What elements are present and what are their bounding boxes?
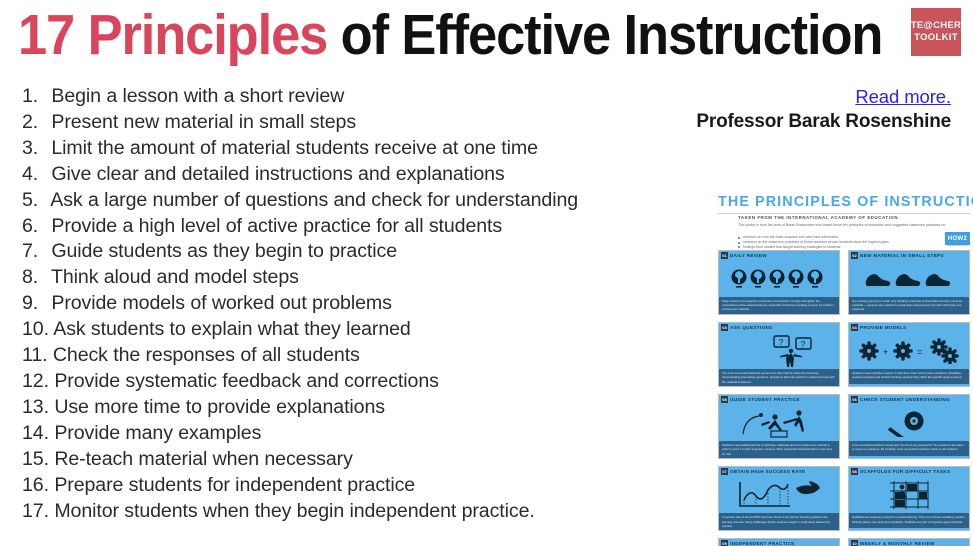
poster-card-description: Scaffolds are temporary supports to assi… xyxy=(849,513,969,528)
poster-card-number-badge: 04 xyxy=(851,324,858,331)
list-item-text: Limit the amount of material students re… xyxy=(51,137,538,159)
poster-card-header: 06CHECK STUDENT UNDERSTANDING xyxy=(849,395,969,404)
poster-card: 04PROVIDE MODELS+=Students need cognitiv… xyxy=(848,322,970,387)
poster-card-illustration-scaffold xyxy=(849,476,969,513)
poster-card-title: GUIDE STUDENT PRACTICE xyxy=(730,397,800,402)
list-item: 11. Check the responses of all students xyxy=(22,343,662,369)
poster-card-number-badge: 07 xyxy=(721,468,728,475)
list-item-text: Monitor students when they begin indepen… xyxy=(54,500,534,522)
list-item-text: Give clear and detailed instructions and… xyxy=(51,163,504,185)
list-item-number: 14. xyxy=(22,421,49,447)
poster-card-description: Less successful teachers merely ask 'Are… xyxy=(849,441,969,456)
poster-card-illustration-magnifier xyxy=(849,404,969,441)
poster-card-number-badge: 05 xyxy=(721,396,728,403)
list-item-number: 8. xyxy=(22,265,46,291)
list-item-text: Ask students to explain what they learne… xyxy=(53,318,411,340)
poster-card: 06CHECK STUDENT UNDERSTANDINGLess succes… xyxy=(848,394,970,459)
list-item-text: Ask a large number of questions and chec… xyxy=(50,189,578,211)
logo-line-1: TE@CHER xyxy=(911,20,961,32)
poster-intro-text: This poster is from the work of Barak Ro… xyxy=(738,223,946,228)
list-item: 6. Provide a high level of active practi… xyxy=(22,214,662,240)
page-title-rest: of Effective Instruction xyxy=(327,3,882,67)
poster-bullet-list: research on how the brain acquires and u… xyxy=(738,235,950,250)
how2-badge-sublabel: teachertoolkit.co.uk xyxy=(945,245,970,247)
author-name: Professor Barak Rosenshine xyxy=(651,111,951,133)
svg-text:=: = xyxy=(917,347,922,357)
list-item-number: 6. xyxy=(22,214,46,240)
list-item-text: Provide models of worked out problems xyxy=(51,292,391,314)
poster-card-description: The most successful teachers spend more … xyxy=(719,369,839,386)
poster-card: 08SCAFFOLDS FOR DIFFICULT TASKSScaffolds… xyxy=(848,466,970,531)
poster-card-illustration-guide xyxy=(719,404,839,441)
poster-card-title: SCAFFOLDS FOR DIFFICULT TASKS xyxy=(860,469,950,474)
list-item: 1. Begin a lesson with a short review xyxy=(22,84,662,110)
poster-card-number-badge: 01 xyxy=(721,252,728,259)
poster-card-header: 10WEEKLY & MONTHLY REVIEW xyxy=(849,539,969,546)
list-item-number: 9. xyxy=(22,291,46,317)
poster-card: 09INDEPENDENT PRACTICE+++Independent pra… xyxy=(718,538,840,546)
list-item-text: Provide many examples xyxy=(54,422,261,444)
list-item-number: 4. xyxy=(22,162,46,188)
list-item-text: Guide students as they begin to practice xyxy=(51,240,397,262)
list-item-text: Think aloud and model steps xyxy=(51,266,299,288)
principles-of-instruction-poster[interactable]: THE PRINCIPLES OF INSTRUCTION TAKEN FROM… xyxy=(712,192,973,546)
poster-card-title: INDEPENDENT PRACTICE xyxy=(730,541,795,546)
list-item-number: 3. xyxy=(22,136,46,162)
list-item: 5. Ask a large number of questions and c… xyxy=(22,188,662,214)
poster-card: 10WEEKLY & MONTHLY REVIEWThe effort invo… xyxy=(848,538,970,546)
list-item-number: 17. xyxy=(22,499,49,525)
logo-line-2: TOOLKIT xyxy=(914,32,958,44)
poster-card-title: DAILY REVIEW xyxy=(730,253,767,258)
poster-card: 07OBTAIN HIGH SUCCESS RATEA success rate… xyxy=(718,466,840,531)
list-item: 4. Give clear and detailed instructions … xyxy=(22,162,662,188)
poster-card-description: Our working memory is small, only handli… xyxy=(849,297,969,314)
list-item-text: Provide systematic feedback and correcti… xyxy=(54,370,439,392)
list-item: 8. Think aloud and model steps xyxy=(22,265,662,291)
poster-card-grid: 01DAILY REVIEWDaily review is an importa… xyxy=(718,250,970,546)
poster-card-description: Students need additional time to rephras… xyxy=(719,441,839,458)
poster-card-illustration-question: ?? xyxy=(719,332,839,369)
list-item-text: Begin a lesson with a short review xyxy=(51,85,344,107)
poster-card: 01DAILY REVIEWDaily review is an importa… xyxy=(718,250,840,315)
list-item-text: Use more time to provide explanations xyxy=(54,396,385,418)
poster-card-header: 02NEW MATERIAL IN SMALL STEPS xyxy=(849,251,969,260)
poster-card-description: Daily review is an important component o… xyxy=(719,297,839,314)
list-item: 14. Provide many examples xyxy=(22,421,662,447)
list-item-number: 15. xyxy=(22,447,49,473)
list-item: 9. Provide models of worked out problems xyxy=(22,291,662,317)
list-item-text: Provide a high level of active practice … xyxy=(51,215,502,237)
principles-list: 1. Begin a lesson with a short review2. … xyxy=(22,84,662,524)
poster-card-illustration-shoes xyxy=(849,260,969,297)
list-item: 13. Use more time to provide explanation… xyxy=(22,395,662,421)
poster-card-number-badge: 08 xyxy=(851,468,858,475)
poster-card-number-badge: 09 xyxy=(721,540,728,546)
poster-card-number-badge: 06 xyxy=(851,396,858,403)
list-item-number: 11. xyxy=(22,343,47,369)
poster-card-header: 05GUIDE STUDENT PRACTICE xyxy=(719,395,839,404)
page-header: 17 Principles of Effective Instruction T… xyxy=(0,0,973,74)
poster-card-number-badge: 10 xyxy=(851,540,858,546)
poster-card-header: 09INDEPENDENT PRACTICE xyxy=(719,539,839,546)
page-title-accent: 17 Principles xyxy=(18,3,327,67)
list-item-text: Prepare students for independent practic… xyxy=(54,474,415,496)
read-more-link[interactable]: Read more. xyxy=(855,86,951,107)
page-title: 17 Principles of Effective Instruction xyxy=(18,2,882,68)
poster-divider xyxy=(718,213,970,214)
poster-card-illustration-brains xyxy=(719,260,839,297)
poster-card-header: 04PROVIDE MODELS xyxy=(849,323,969,332)
poster-title: THE PRINCIPLES OF INSTRUCTION xyxy=(718,194,967,210)
poster-card-title: OBTAIN HIGH SUCCESS RATE xyxy=(730,469,805,474)
poster-card-header: 03ASK QUESTIONS xyxy=(719,323,839,332)
list-item-text: Present new material in small steps xyxy=(51,111,356,133)
list-item-number: 2. xyxy=(22,110,46,136)
list-item: 3. Limit the amount of material students… xyxy=(22,136,662,162)
svg-text:?: ? xyxy=(801,340,806,349)
poster-card-header: 01DAILY REVIEW xyxy=(719,251,839,260)
poster-card: 02NEW MATERIAL IN SMALL STEPSOur working… xyxy=(848,250,970,315)
list-item: 7. Guide students as they begin to pract… xyxy=(22,239,662,265)
list-item: 16. Prepare students for independent pra… xyxy=(22,473,662,499)
poster-card-number-badge: 02 xyxy=(851,252,858,259)
list-item: 10. Ask students to explain what they le… xyxy=(22,317,662,343)
poster-card: 03ASK QUESTIONS??The most successful tea… xyxy=(718,322,840,387)
list-item-number: 12. xyxy=(22,369,49,395)
list-item-number: 5. xyxy=(22,188,46,214)
list-item-number: 10. xyxy=(22,317,49,343)
list-item: 12. Provide systematic feedback and corr… xyxy=(22,369,662,395)
svg-text:?: ? xyxy=(779,338,784,347)
poster-card-illustration-chart xyxy=(719,476,839,513)
poster-bullet: findings from studies that taught learni… xyxy=(738,245,950,250)
list-item-number: 1. xyxy=(22,84,46,110)
poster-card-description: A success rate of around 80% has been fo… xyxy=(719,513,839,530)
list-item: 17. Monitor students when they begin ind… xyxy=(22,499,662,525)
list-item-text: Check the responses of all students xyxy=(53,344,360,366)
list-item-number: 13. xyxy=(22,395,49,421)
poster-card-illustration-gears: += xyxy=(849,332,969,369)
svg-text:+: + xyxy=(883,347,888,357)
list-item-text: Re-teach material when necessary xyxy=(54,448,352,470)
poster-card-title: ASK QUESTIONS xyxy=(730,325,773,330)
poster-card-number-badge: 03 xyxy=(721,324,728,331)
poster-card-header: 08SCAFFOLDS FOR DIFFICULT TASKS xyxy=(849,467,969,476)
poster-card-title: WEEKLY & MONTHLY REVIEW xyxy=(860,541,935,546)
list-item: 15. Re-teach material when necessary xyxy=(22,447,662,473)
list-item-number: 7. xyxy=(22,239,46,265)
teacher-toolkit-logo[interactable]: TE@CHER TOOLKIT xyxy=(911,8,961,56)
poster-card-title: CHECK STUDENT UNDERSTANDING xyxy=(860,397,950,402)
read-more-container: Read more. xyxy=(651,86,951,108)
list-item-number: 16. xyxy=(22,473,49,499)
poster-card: 05GUIDE STUDENT PRACTICEStudents need ad… xyxy=(718,394,840,459)
poster-card-header: 07OBTAIN HIGH SUCCESS RATE xyxy=(719,467,839,476)
poster-card-title: PROVIDE MODELS xyxy=(860,325,907,330)
poster-subtitle: TAKEN FROM THE INTERNATIONAL ACADEMY OF … xyxy=(738,215,966,220)
poster-card-description: Students need cognitive support to help … xyxy=(849,369,969,384)
list-item: 2. Present new material in small steps xyxy=(22,110,662,136)
poster-card-title: NEW MATERIAL IN SMALL STEPS xyxy=(860,253,944,258)
how2-badge: HOW2 xyxy=(945,232,970,245)
